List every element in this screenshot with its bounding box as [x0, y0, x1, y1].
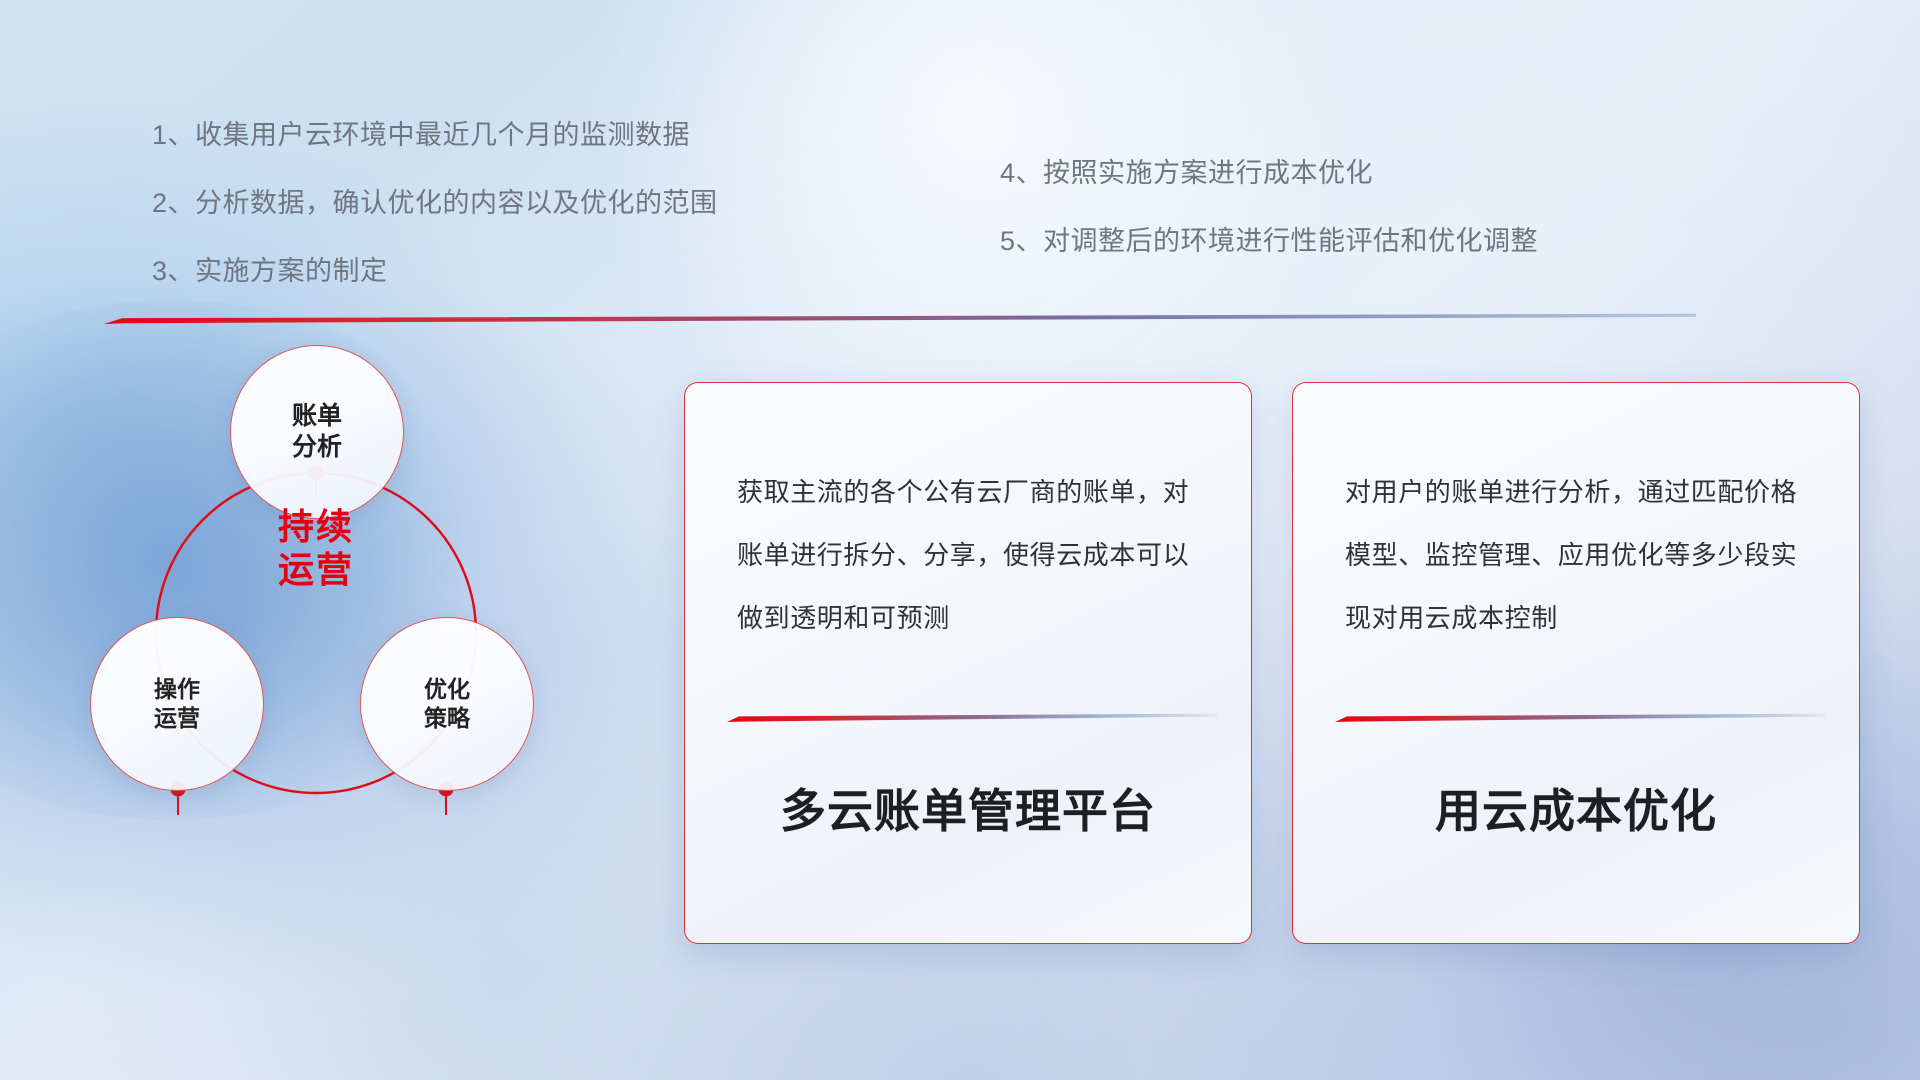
- venn-lobe-label-line1: 优化: [424, 675, 470, 704]
- card-title: 多云账单管理平台: [685, 775, 1251, 841]
- venn-center-label: 持续 运营: [216, 505, 416, 591]
- venn-lobe-operation-ops[interactable]: 操作 运营: [90, 617, 264, 791]
- venn-center-line1: 持续: [216, 505, 416, 548]
- bullet-item: 5、对调整后的环境进行性能评估和优化调整: [1000, 228, 1538, 255]
- section-divider: [104, 313, 1696, 325]
- bullet-list-left: 1、收集用户云环境中最近几个月的监测数据 2、分析数据，确认优化的内容以及优化的…: [152, 122, 718, 326]
- venn-lobe-bill-analysis[interactable]: 账单 分析: [230, 345, 404, 519]
- card-body-text: 获取主流的各个公有云厂商的账单，对账单进行拆分、分享，使得云成本可以做到透明和可…: [737, 461, 1211, 650]
- venn-lobe-label-line1: 操作: [154, 675, 200, 704]
- venn-lobe-label-line1: 账单: [292, 401, 342, 432]
- bullet-item: 4、按照实施方案进行成本优化: [1000, 160, 1538, 187]
- bullet-item: 1、收集用户云环境中最近几个月的监测数据: [152, 122, 718, 149]
- slide-canvas: 1、收集用户云环境中最近几个月的监测数据 2、分析数据，确认优化的内容以及优化的…: [0, 0, 1920, 1080]
- bullet-item: 2、分析数据，确认优化的内容以及优化的范围: [152, 190, 718, 217]
- bullet-list-right: 4、按照实施方案进行成本优化 5、对调整后的环境进行性能评估和优化调整: [1000, 160, 1538, 296]
- venn-lobe-label-line2: 策略: [424, 704, 470, 733]
- bullet-item: 3、实施方案的制定: [152, 258, 718, 285]
- card-accent-rule: [727, 713, 1217, 723]
- venn-lobe-optimization-strategy[interactable]: 优化 策略: [360, 617, 534, 791]
- venn-center-line2: 运营: [216, 548, 416, 591]
- card-title: 用云成本优化: [1293, 775, 1859, 841]
- card-multi-cloud-bill-platform[interactable]: 获取主流的各个公有云厂商的账单，对账单进行拆分、分享，使得云成本可以做到透明和可…: [684, 382, 1252, 944]
- card-accent-rule: [1335, 713, 1825, 723]
- continuous-operation-diagram: 账单 分析 操作 运营 优化 策略 持续 运营: [90, 345, 650, 945]
- card-body-text: 对用户的账单进行分析，通过匹配价格模型、监控管理、应用优化等多少段实现对用云成本…: [1345, 461, 1819, 650]
- card-cloud-cost-optimization[interactable]: 对用户的账单进行分析，通过匹配价格模型、监控管理、应用优化等多少段实现对用云成本…: [1292, 382, 1860, 944]
- venn-lobe-label-line2: 分析: [292, 432, 342, 463]
- venn-lobe-label-line2: 运营: [154, 704, 200, 733]
